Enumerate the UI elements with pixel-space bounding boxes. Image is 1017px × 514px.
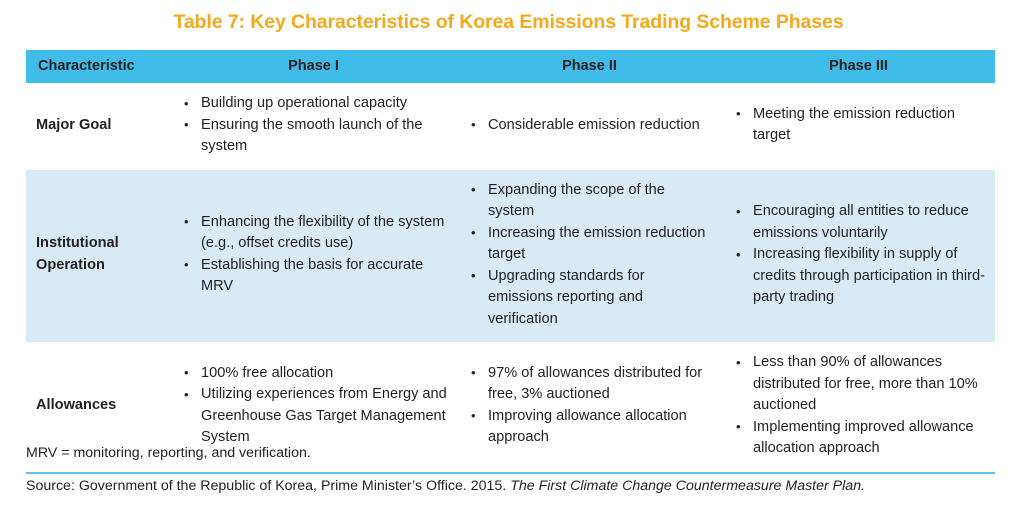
bullet-item: Meeting the emission reduction target [732,104,985,147]
table-row: Institutional OperationEnhancing the fle… [26,170,995,343]
cell-phase-3: Meeting the emission reduction target [722,83,995,170]
abbreviation-note: MRV = monitoring, reporting, and verific… [26,443,995,463]
table-figure: Table 7: Key Characteristics of Korea Em… [0,0,1017,514]
cell-phase-3: Encouraging all entities to reduce emiss… [722,170,995,343]
bullet-item: 100% free allocation [180,363,447,385]
row-label: Major Goal [26,83,170,170]
bullet-item: Building up operational capacity [180,93,447,115]
source-note-title: The First Climate Change Countermeasure … [510,478,865,494]
table-header: Characteristic Phase I Phase II Phase II… [26,50,995,83]
bullet-item: Encouraging all entities to reduce emiss… [732,201,985,244]
bullet-item: Upgrading standards for emissions report… [467,266,712,331]
bullet-item: Utilizing experiences from Energy and Gr… [180,384,447,449]
cell-phase-1: Enhancing the flexibility of the system … [170,170,457,343]
bullet-list: Enhancing the flexibility of the system … [180,212,447,298]
bullet-list: Expanding the scope of the systemIncreas… [467,180,712,331]
table-row: Major GoalBuilding up operational capaci… [26,83,995,170]
column-header-phase-1: Phase I [170,50,457,83]
bullet-list: Considerable emission reduction [467,115,712,137]
row-label: Institutional Operation [26,170,170,343]
column-header-phase-2: Phase II [457,50,722,83]
cell-phase-2: Expanding the scope of the systemIncreas… [457,170,722,343]
table-container: Characteristic Phase I Phase II Phase II… [26,50,995,474]
bullet-list: Encouraging all entities to reduce emiss… [732,201,985,309]
characteristics-table: Characteristic Phase I Phase II Phase II… [26,50,995,474]
bullet-list: Building up operational capacityEnsuring… [180,93,447,158]
table-body: Major GoalBuilding up operational capaci… [26,83,995,473]
bullet-item: Considerable emission reduction [467,115,712,137]
cell-phase-2: Considerable emission reduction [457,83,722,170]
source-note-prefix: Source: Government of the Republic of Ko… [26,478,510,494]
bullet-item: Expanding the scope of the system [467,180,712,223]
bullet-item: Establishing the basis for accurate MRV [180,255,447,298]
bullet-list: 100% free allocationUtilizing experience… [180,363,447,449]
bullet-item: Increasing the emission reduction target [467,223,712,266]
bullet-item: 97% of allowances distributed for free, … [467,363,712,406]
source-note: Source: Government of the Republic of Ko… [26,476,995,496]
bullet-item: Ensuring the smooth launch of the system [180,115,447,158]
bullet-list: Meeting the emission reduction target [732,104,985,147]
table-header-row: Characteristic Phase I Phase II Phase II… [26,50,995,83]
cell-phase-1: Building up operational capacityEnsuring… [170,83,457,170]
bullet-item: Enhancing the flexibility of the system … [180,212,447,255]
page-title: Table 7: Key Characteristics of Korea Em… [0,10,1017,34]
bullet-list: 97% of allowances distributed for free, … [467,363,712,449]
bullet-item: Increasing flexibility in supply of cred… [732,244,985,309]
bullet-item: Less than 90% of allowances distributed … [732,352,985,417]
table-notes: MRV = monitoring, reporting, and verific… [26,443,995,496]
column-header-characteristic: Characteristic [26,50,170,83]
column-header-phase-3: Phase III [722,50,995,83]
